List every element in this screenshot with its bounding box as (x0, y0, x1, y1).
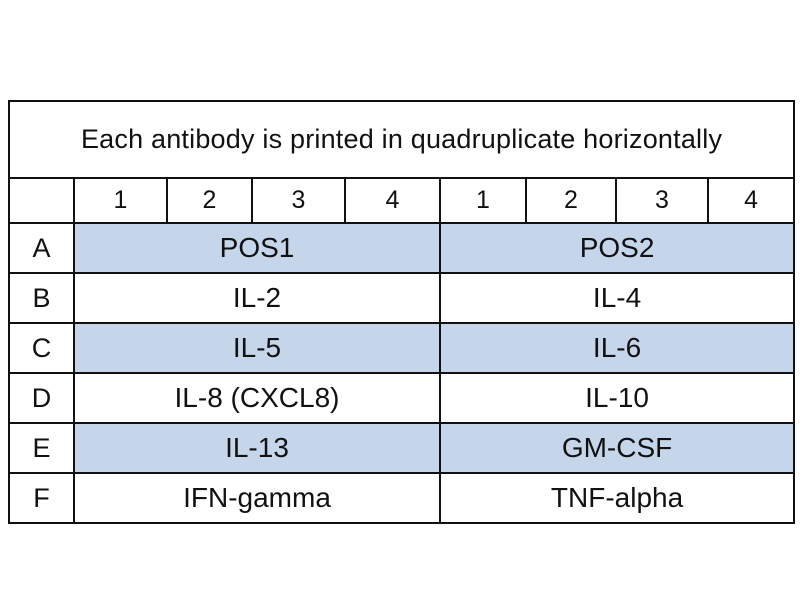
table-row: E IL-13 GM-CSF (9, 423, 794, 473)
analyte-cell-d-left: IL-8 (CXCL8) (74, 373, 440, 423)
analyte-cell-b-left: IL-2 (74, 273, 440, 323)
column-header-left-2: 2 (167, 178, 252, 223)
row-label-c: C (9, 323, 74, 373)
analyte-cell-a-right: POS2 (440, 223, 794, 273)
title-row: Each antibody is printed in quadruplicat… (9, 101, 794, 178)
header-corner-cell (9, 178, 74, 223)
analyte-cell-d-right: IL-10 (440, 373, 794, 423)
analyte-cell-b-right: IL-4 (440, 273, 794, 323)
analyte-cell-f-right: TNF-alpha (440, 473, 794, 523)
column-header-right-3: 3 (616, 178, 708, 223)
column-header-left-3: 3 (252, 178, 345, 223)
array-layout-table: Each antibody is printed in quadruplicat… (8, 100, 795, 524)
antibody-array-map: Each antibody is printed in quadruplicat… (8, 100, 793, 509)
table-row: A POS1 POS2 (9, 223, 794, 273)
column-header-right-2: 2 (526, 178, 616, 223)
column-header-right-1: 1 (440, 178, 526, 223)
analyte-cell-c-left: IL-5 (74, 323, 440, 373)
analyte-cell-e-left: IL-13 (74, 423, 440, 473)
column-header-right-4: 4 (708, 178, 794, 223)
table-title: Each antibody is printed in quadruplicat… (9, 101, 794, 178)
column-header-left-1: 1 (74, 178, 167, 223)
row-label-f: F (9, 473, 74, 523)
row-label-a: A (9, 223, 74, 273)
column-header-left-4: 4 (345, 178, 440, 223)
table-row: F IFN-gamma TNF-alpha (9, 473, 794, 523)
table-row: B IL-2 IL-4 (9, 273, 794, 323)
table-row: C IL-5 IL-6 (9, 323, 794, 373)
row-label-d: D (9, 373, 74, 423)
column-header-row: 1 2 3 4 1 2 3 4 (9, 178, 794, 223)
table-row: D IL-8 (CXCL8) IL-10 (9, 373, 794, 423)
analyte-cell-c-right: IL-6 (440, 323, 794, 373)
row-label-b: B (9, 273, 74, 323)
analyte-cell-f-left: IFN-gamma (74, 473, 440, 523)
analyte-cell-e-right: GM-CSF (440, 423, 794, 473)
row-label-e: E (9, 423, 74, 473)
analyte-cell-a-left: POS1 (74, 223, 440, 273)
